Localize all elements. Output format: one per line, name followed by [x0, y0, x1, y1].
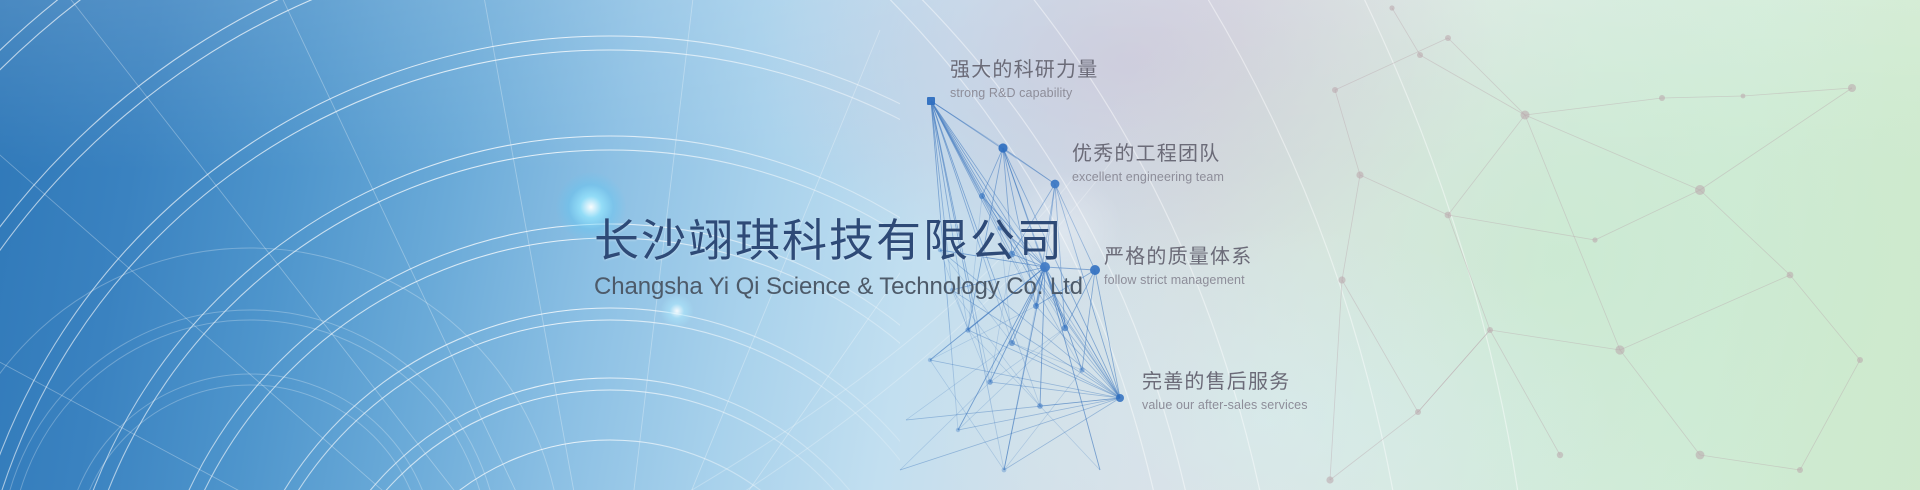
small-light-glow-icon [660, 294, 694, 328]
mint-wash [0, 0, 1920, 490]
feature-label-cn: 优秀的工程团队 [1072, 137, 1224, 166]
company-name-en: Changsha Yi Qi Science & Technology Co. … [594, 273, 1083, 301]
feature-label-en: excellent engineering team [1072, 170, 1224, 184]
lavender-wash [0, 0, 1920, 490]
feature-label-cn: 完善的售后服务 [1142, 365, 1308, 394]
feature-label-en: follow strict management [1104, 273, 1252, 287]
feature-item-rd: 强大的科研力量 strong R&D capability [950, 53, 1098, 100]
faint-node-network-graphic [0, 0, 1920, 490]
feature-item-quality-system: 严格的质量体系 follow strict management [1104, 240, 1252, 287]
concentric-arc-rays-graphic [0, 0, 1920, 490]
blue-node-network-graphic [0, 0, 1920, 490]
cyan-light-glow-icon [556, 172, 626, 242]
feature-label-en: value our after-sales services [1142, 398, 1308, 412]
feature-item-engineering-team: 优秀的工程团队 excellent engineering team [1072, 137, 1224, 184]
company-name-cn: 长沙翊琪科技有限公司 [594, 218, 1083, 265]
faint-light-glow-icon [1004, 170, 1124, 290]
feature-label-cn: 强大的科研力量 [950, 53, 1098, 82]
feature-label-en: strong R&D capability [950, 86, 1098, 100]
feature-item-after-sales: 完善的售后服务 value our after-sales services [1142, 365, 1308, 412]
feature-label-cn: 严格的质量体系 [1104, 240, 1252, 269]
pale-arc-overlay-graphic [0, 0, 1920, 490]
company-title-block: 长沙翊琪科技有限公司 Changsha Yi Qi Science & Tech… [594, 218, 1083, 301]
company-hero-banner: 长沙翊琪科技有限公司 Changsha Yi Qi Science & Tech… [0, 0, 1920, 490]
cyan-haze-wash [0, 0, 1920, 490]
top-highlight-wash [0, 0, 1920, 490]
